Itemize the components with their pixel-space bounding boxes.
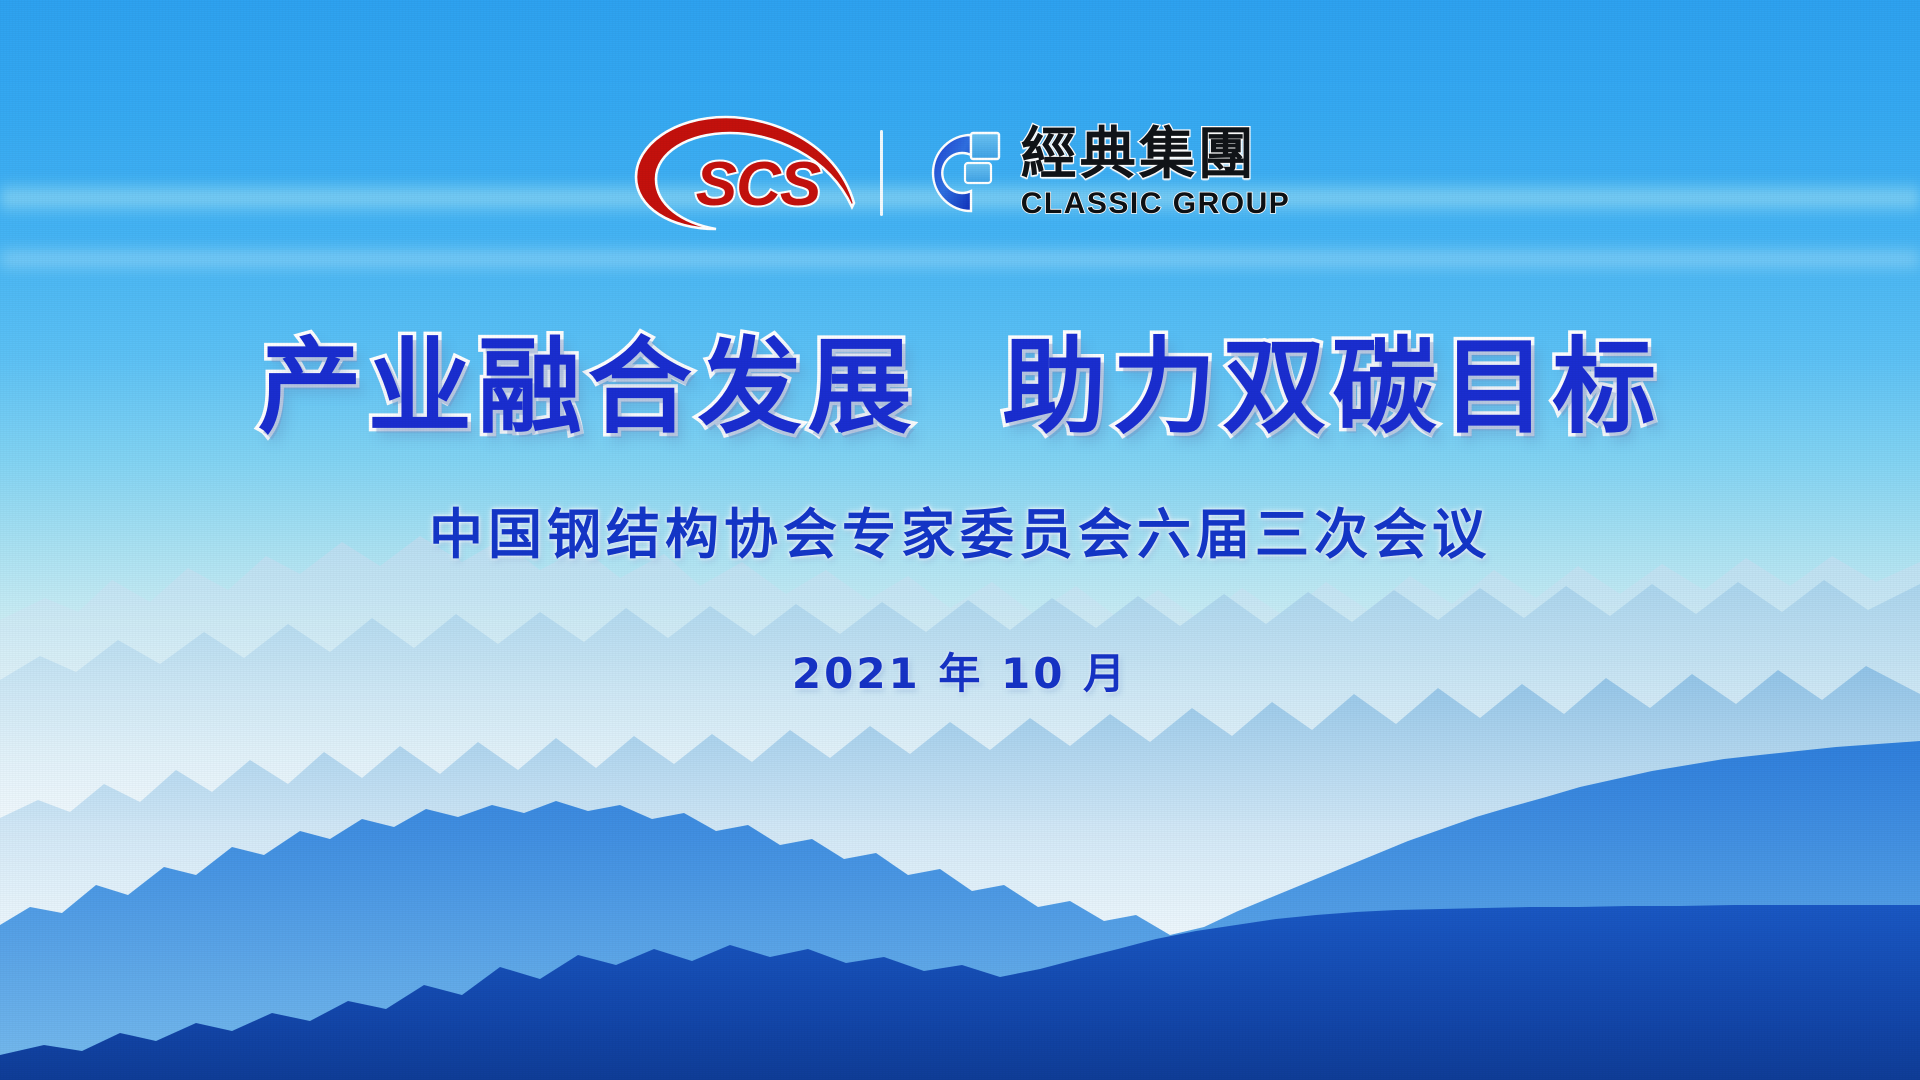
classic-group-text: 經典集團 CLASSIC GROUP bbox=[1021, 127, 1291, 219]
classic-group-c-mark-icon bbox=[909, 125, 1005, 221]
classic-group-name-cn: 經典集團 bbox=[1021, 127, 1291, 183]
classic-group-logo: 經典集團 CLASSIC GROUP bbox=[909, 125, 1291, 221]
logo-divider bbox=[880, 130, 883, 216]
date-container: 2021 年 10 月 bbox=[0, 640, 1920, 701]
headline-text: 产业融合发展 助力双碳目标 bbox=[258, 332, 1662, 442]
classic-group-name-en: CLASSIC GROUP bbox=[1021, 189, 1291, 219]
subtitle-text: 中国钢结构协会专家委员会六届三次会议 bbox=[429, 490, 1491, 569]
svg-text:SCS: SCS bbox=[695, 150, 820, 219]
mountain-ridge-front bbox=[0, 905, 1920, 1080]
headline-container: 产业融合发展 助力双碳目标 bbox=[0, 332, 1920, 442]
scs-logo: SCS bbox=[630, 115, 862, 231]
sky-haze-streak-lower bbox=[0, 246, 1920, 272]
conference-banner: SCS bbox=[0, 0, 1920, 1080]
subtitle-container: 中国钢结构协会专家委员会六届三次会议 bbox=[0, 490, 1920, 569]
date-text: 2021 年 10 月 bbox=[792, 640, 1128, 701]
logo-bar: SCS bbox=[0, 108, 1920, 238]
